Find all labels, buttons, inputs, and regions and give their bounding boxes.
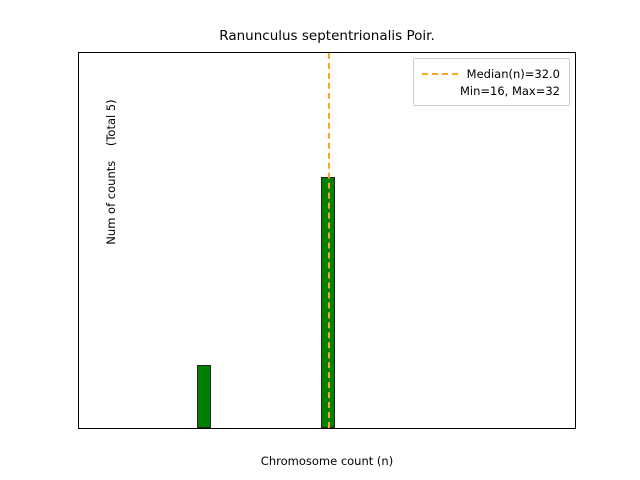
y-axis-label: Num of counts (Total 5) <box>104 2 118 342</box>
chart-title: Ranunculus septentrionalis Poir. <box>78 28 576 44</box>
legend-entry-median: Median(n)=32.0 <box>422 65 560 82</box>
legend: Median(n)=32.0 Min=16, Max=32 <box>413 58 570 106</box>
dashed-line-icon <box>422 73 458 75</box>
bar-16 <box>197 365 211 428</box>
legend-label-minmax: Min=16, Max=32 <box>460 84 560 98</box>
legend-entry-minmax: Min=16, Max=32 <box>422 82 560 99</box>
x-axis-label: Chromosome count (n) <box>78 454 576 468</box>
plot-area: 0 1 2 3 4 5 6 16 <box>79 53 575 428</box>
median-line <box>328 53 330 428</box>
legend-label-median: Median(n)=32.0 <box>467 67 560 81</box>
chart-figure: Ranunculus septentrionalis Poir. 0 1 2 3… <box>0 0 640 480</box>
plot-axes: 0 1 2 3 4 5 6 16 <box>78 52 576 429</box>
